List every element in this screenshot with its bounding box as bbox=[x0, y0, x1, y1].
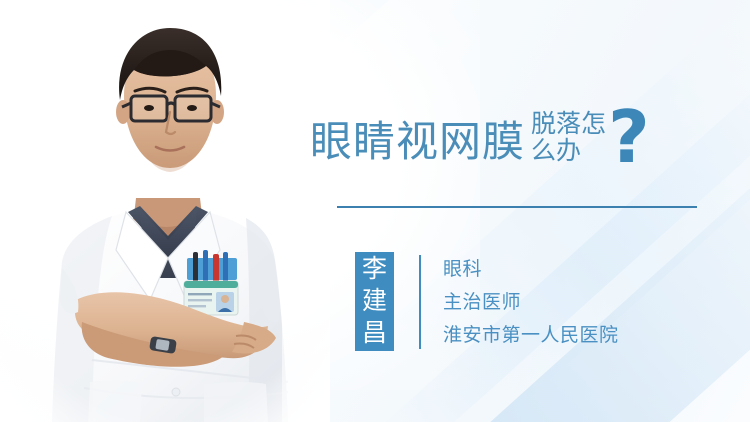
headline-sub-line2: 么办 bbox=[531, 138, 606, 165]
vertical-divider bbox=[419, 255, 421, 349]
horizontal-divider bbox=[337, 206, 697, 208]
doctor-name-char-3: 昌 bbox=[355, 317, 394, 349]
doctor-department: 眼科 bbox=[443, 253, 619, 286]
doctor-title: 主治医师 bbox=[443, 286, 619, 319]
banner-canvas: 眼睛视网膜 脱落怎 么办 ? 李 建 昌 眼科 主治医师 淮安市第一人民医院 bbox=[0, 0, 750, 422]
doctor-meta: 眼科 主治医师 淮安市第一人民医院 bbox=[443, 253, 619, 352]
headline-sub-text: 脱落怎 么办 bbox=[531, 108, 606, 165]
doctor-hospital: 淮安市第一人民医院 bbox=[443, 319, 619, 352]
headline-sub-line1: 脱落怎 bbox=[531, 110, 606, 138]
doctor-info: 李 建 昌 眼科 主治医师 淮安市第一人民医院 bbox=[355, 252, 619, 352]
headline-main-text: 眼睛视网膜 bbox=[310, 108, 525, 163]
doctor-name-char-1: 李 bbox=[355, 253, 394, 285]
doctor-name-char-2: 建 bbox=[355, 285, 394, 317]
doctor-portrait bbox=[0, 0, 330, 422]
headline: 眼睛视网膜 脱落怎 么办 ? bbox=[310, 108, 650, 167]
question-mark-icon: ? bbox=[608, 108, 650, 167]
doctor-name-box: 李 建 昌 bbox=[355, 252, 394, 351]
